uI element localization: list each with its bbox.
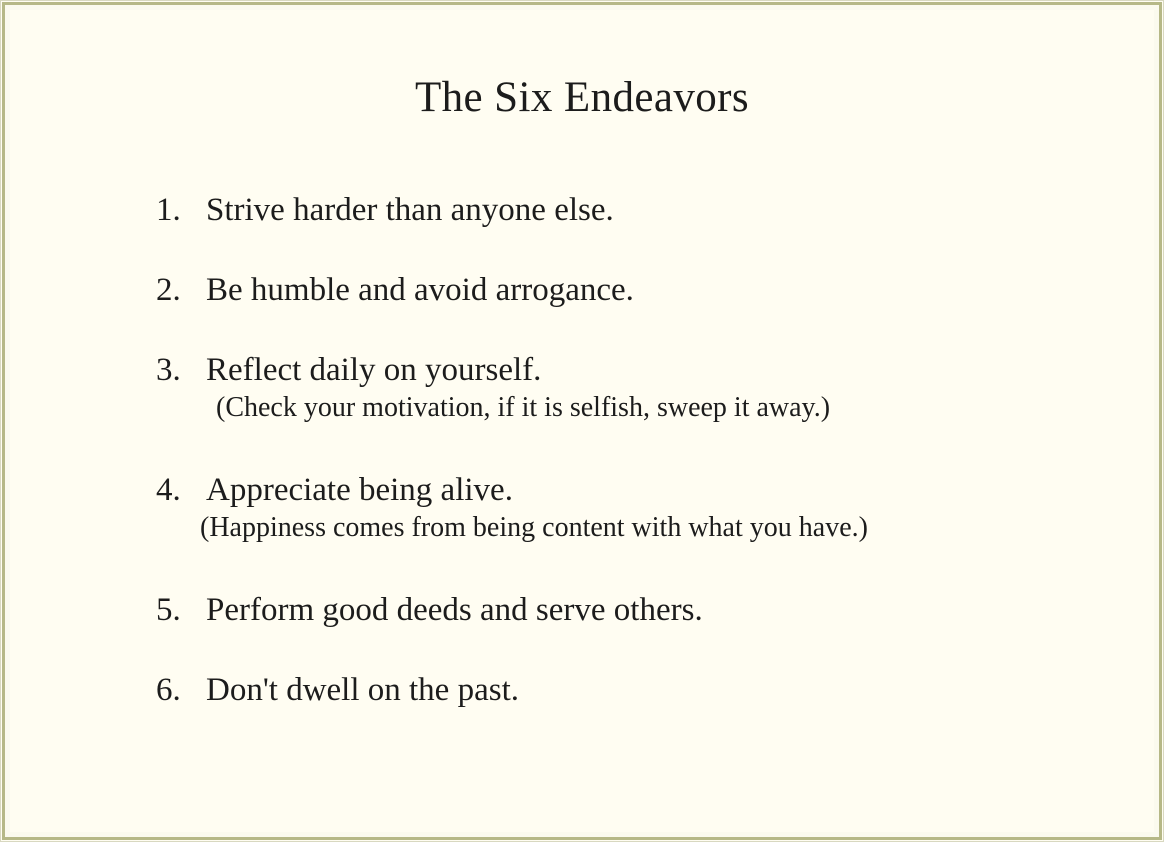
- list-item: 6.Don't dwell on the past.: [10, 668, 1154, 712]
- list-item-text: Strive harder than anyone else.: [206, 188, 614, 232]
- list-item-number: 4.: [156, 468, 200, 512]
- list-item-note: (Happiness comes from being content with…: [200, 508, 868, 548]
- list-item-number: 1.: [156, 188, 200, 232]
- list-item-number: 3.: [156, 348, 200, 392]
- slide-surface: The Six Endeavors 1.Strive harder than a…: [10, 10, 1154, 832]
- slide-frame: The Six Endeavors 1.Strive harder than a…: [0, 0, 1164, 842]
- list-item-text: Reflect daily on yourself.: [206, 348, 541, 392]
- list-item: 3.Reflect daily on yourself.(Check your …: [10, 348, 1154, 392]
- list-item: 5.Perform good deeds and serve others.: [10, 588, 1154, 632]
- list-item: 1.Strive harder than anyone else.: [10, 188, 1154, 232]
- list-item: 2.Be humble and avoid arrogance.: [10, 268, 1154, 312]
- list-item: 4.Appreciate being alive.(Happiness come…: [10, 468, 1154, 512]
- list-item-note: (Check your motivation, if it is selfish…: [216, 388, 830, 428]
- page-title: The Six Endeavors: [10, 76, 1154, 119]
- list-item-number: 6.: [156, 668, 200, 712]
- list-item-number: 5.: [156, 588, 200, 632]
- list-item-text: Appreciate being alive.: [206, 468, 513, 512]
- list-item-number: 2.: [156, 268, 200, 312]
- list-item-text: Perform good deeds and serve others.: [206, 588, 703, 632]
- list-item-text: Be humble and avoid arrogance.: [206, 268, 634, 312]
- list-item-text: Don't dwell on the past.: [206, 668, 519, 712]
